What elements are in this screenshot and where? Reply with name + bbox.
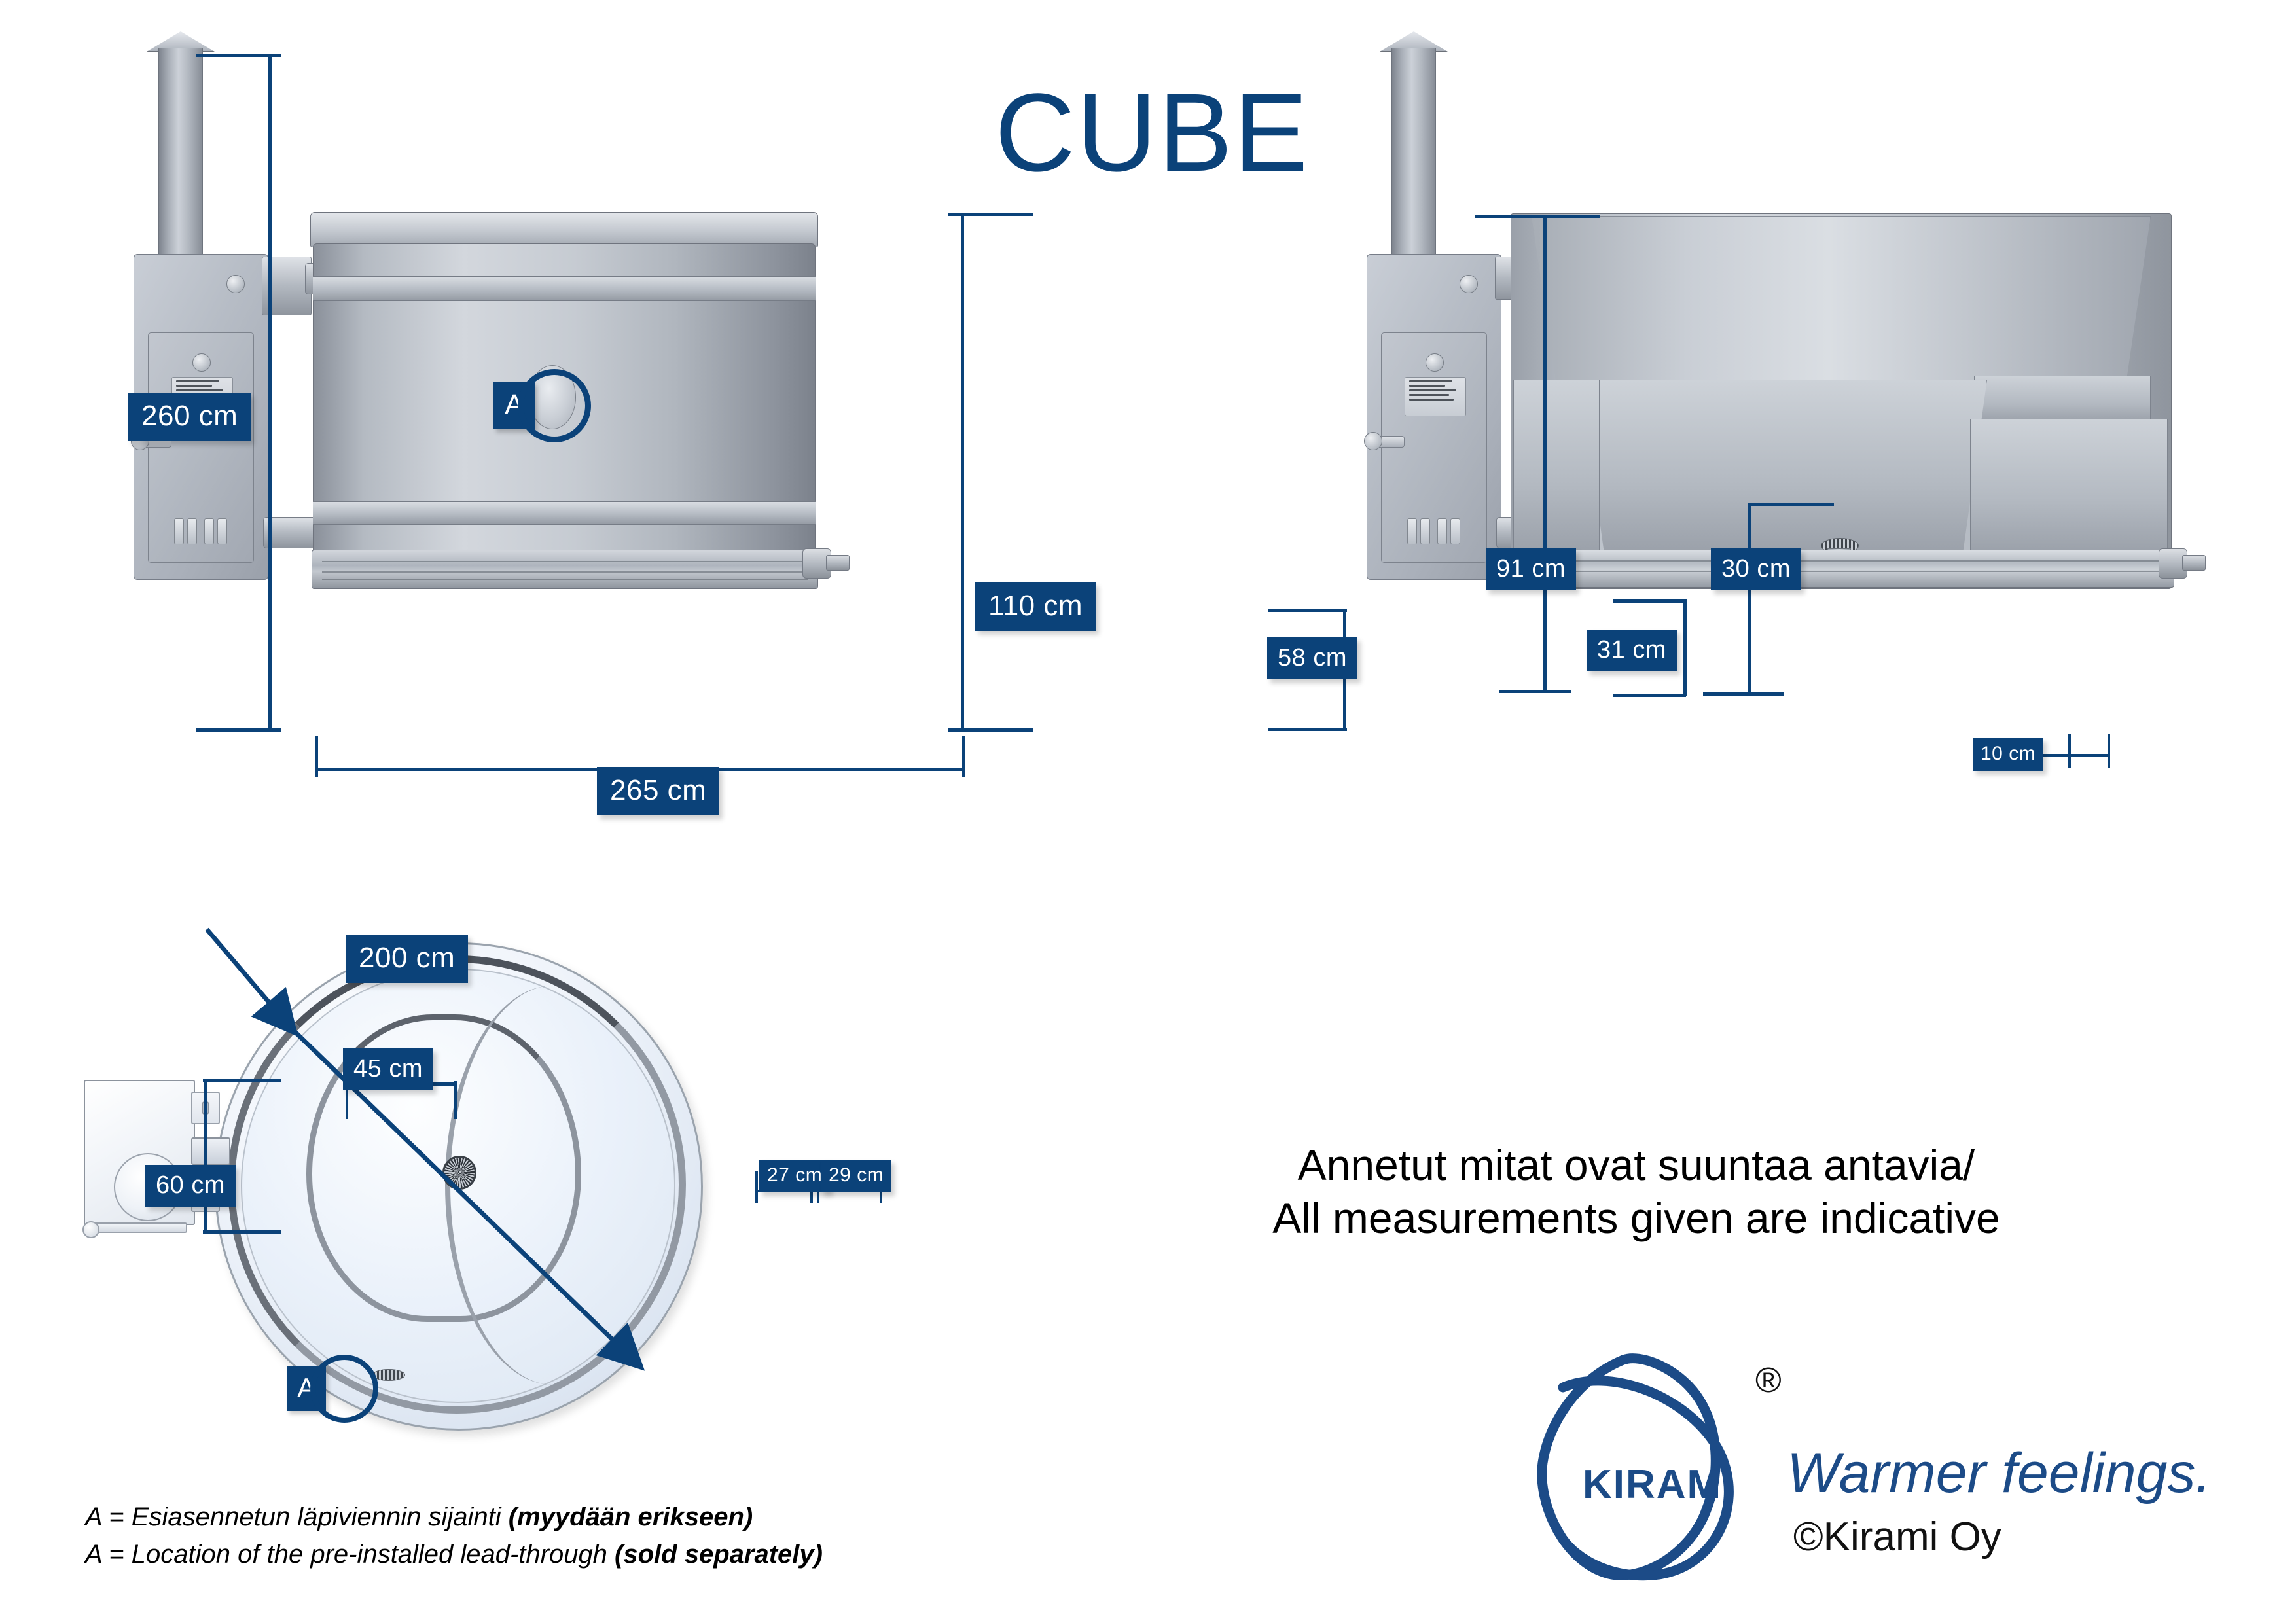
air-vent-3-section: [1437, 518, 1447, 544]
dim-31-top-tick: [1613, 599, 1686, 603]
legend-en-emphasis: (sold separately): [615, 1540, 823, 1569]
tub-base-rail-section: [1509, 550, 2174, 588]
dim-total-height: 260 cm: [128, 393, 251, 441]
tub-base-skid: [312, 550, 818, 589]
tub-body: A: [313, 213, 816, 586]
footwell-floor: [1580, 380, 1987, 555]
dim-110-line: [961, 213, 964, 731]
drain-spout-section: [2182, 555, 2206, 571]
dim-91-top-tick: [1475, 215, 1600, 218]
legend-line-en: A = Location of the pre-installed lead-t…: [85, 1536, 823, 1573]
dim-seat-depth: 30 cm: [1711, 548, 1801, 590]
dim-rim-width: 29 cm: [821, 1160, 891, 1192]
copyright-notice: ©Kirami Oy: [1793, 1517, 2001, 1558]
dim-drain-protrusion: 10 cm: [1973, 738, 2043, 771]
seat-ledge-right: [1974, 376, 2151, 423]
air-vent-1: [174, 518, 184, 544]
air-vent-2: [187, 518, 197, 544]
legend: A = Esiasennetun läpiviennin sijainti (m…: [85, 1499, 823, 1573]
dim-total-width: 265 cm: [597, 767, 719, 815]
tub-band-lower: [313, 501, 816, 525]
dim-265-right-tick: [962, 736, 965, 777]
drawing-canvas: CUBE: [0, 0, 2296, 1623]
air-vent-3: [204, 518, 214, 544]
air-vent-4: [217, 518, 227, 544]
dim-91-line: [1543, 215, 1547, 692]
drain-spout-front: [826, 555, 850, 571]
heater-vent-knob-icon-section: [1460, 275, 1478, 293]
heater-unit-section: [1367, 254, 1517, 581]
brand-block: KIRAMI ® Warmer feelings. ©Kirami Oy: [1525, 1348, 2219, 1590]
marker-a-ring-front: [518, 369, 591, 442]
dim-58-top-tick: [1268, 609, 1347, 612]
legend-fi-emphasis: (myydään erikseen): [509, 1503, 753, 1531]
tub-section-interior: [1532, 216, 2151, 383]
air-vent-1-section: [1407, 518, 1417, 544]
dim-tub-height: 110 cm: [975, 582, 1096, 631]
heater-label-plate-section: [1405, 377, 1466, 416]
seat-ledge-left: [1513, 380, 1600, 555]
dim-58-bottom-tick: [1268, 728, 1347, 731]
dim-floor-depth: 31 cm: [1587, 630, 1677, 671]
heater-handle-ball-icon-section: [1364, 432, 1382, 450]
dim-diameter: 200 cm: [346, 935, 468, 983]
dim-110-bottom-tick: [948, 728, 1033, 732]
marker-a-front: A: [493, 369, 591, 442]
dim-10-right-tick: [2108, 734, 2110, 768]
note-line-fi: Annetut mitat ovat suuntaa antavia/: [1139, 1139, 2134, 1192]
legend-fi-text: A = Esiasennetun läpiviennin sijainti: [85, 1503, 509, 1531]
air-vent-2-section: [1420, 518, 1430, 544]
lower-block-right: [1970, 419, 2168, 555]
heater-door-knob-icon: [192, 353, 211, 372]
dim-seat-width: 27 cm: [759, 1160, 830, 1192]
registered-mark-icon: ®: [1755, 1363, 1782, 1398]
kirami-wordmark: KIRAMI: [1583, 1465, 1734, 1505]
legend-en-text: A = Location of the pre-installed lead-t…: [85, 1540, 615, 1569]
indicative-note: Annetut mitat ovat suuntaa antavia/ All …: [1139, 1139, 2134, 1244]
front-elevation-view: A: [118, 26, 1067, 811]
dim-30-top-tick: [1749, 503, 1834, 506]
air-vent-4-section: [1450, 518, 1460, 544]
chimney-pipe-section: [1391, 48, 1436, 271]
marker-a-ring-plan: [310, 1355, 378, 1423]
dim-heater-depth: 60 cm: [145, 1165, 236, 1207]
dim-91-bottom-tick: [1499, 690, 1571, 693]
tub-band-upper: [313, 276, 816, 301]
dim-30-line: [1748, 503, 1751, 695]
dim-260-line: [268, 54, 272, 731]
dim-10-left-tick: [2068, 734, 2071, 768]
dim-31-line: [1683, 599, 1687, 696]
heater-vent-knob-icon: [226, 275, 245, 293]
brand-tagline: Warmer feelings.: [1787, 1445, 2211, 1501]
marker-a-plan: A: [287, 1355, 378, 1423]
dim-heater-width: 45 cm: [343, 1048, 433, 1090]
legend-line-fi: A = Esiasennetun läpiviennin sijainti (m…: [85, 1499, 823, 1536]
heater-door-knob-icon-section: [1426, 353, 1444, 372]
dim-260-bottom-tick: [196, 728, 281, 732]
dim-31-bottom-tick: [1613, 694, 1686, 697]
chimney-pipe: [158, 48, 203, 271]
tub-top-lip: [310, 212, 818, 247]
dim-inner-depth: 91 cm: [1486, 548, 1576, 590]
note-line-en: All measurements given are indicative: [1139, 1192, 2134, 1245]
dim-30-bottom-tick: [1703, 692, 1784, 696]
dim-heater-height: 58 cm: [1267, 637, 1357, 679]
